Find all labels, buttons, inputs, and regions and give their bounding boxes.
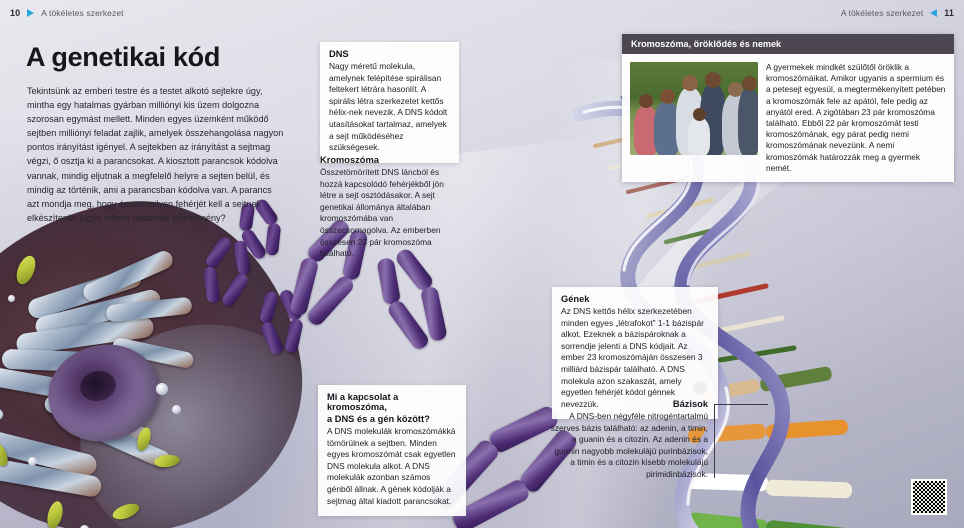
info-card-kapcsolat-text: A DNS molekulák kromoszómákká tömörülnek… — [327, 426, 457, 507]
running-title-right: A tökéletes szerkezet — [841, 8, 923, 18]
running-head-right: A tökéletes szerkezet 11 — [841, 8, 954, 18]
qr-code — [911, 479, 947, 515]
info-card-kromoszoma-title: Kromoszóma — [320, 155, 457, 165]
info-card-kapcsolat-title-line2: a DNS és a gén között? — [327, 414, 457, 424]
info-card-dns-text: Nagy méretű molekula, amelynek felépítés… — [329, 61, 450, 154]
caption-leader-line — [714, 404, 768, 478]
folio-left: 10 — [10, 8, 20, 18]
page-title: A genetikai kód — [26, 42, 220, 73]
info-card-kromoszoma-text: Összetömörített DNS láncból és hozzá kap… — [320, 167, 457, 260]
folio-right: 11 — [944, 8, 954, 18]
intro-paragraph: Tekintsünk az emberi testre és a testet … — [27, 84, 285, 225]
caption-bazisok: Bázisok A DNS-ben négyféle nitrogéntarta… — [548, 399, 708, 481]
info-card-dns-title: DNS — [329, 49, 450, 59]
panel-title: Kromoszóma, öröklődés és nemek — [622, 34, 954, 54]
info-card-genek-text: Az DNS kettős hélix szerkezetében minden… — [561, 306, 709, 410]
info-card-kapcsolat-title-line1: Mi a kapcsolat a kromoszóma, — [327, 392, 457, 412]
info-card-dns: DNS Nagy méretű molekula, amelynek felép… — [320, 42, 459, 163]
animal-cell-illustration — [0, 205, 350, 528]
running-head-left: 10 A tökéletes szerkezet — [10, 8, 124, 18]
magazine-spread: 10 A tökéletes szerkezet A tökéletes sze… — [0, 0, 964, 528]
arrow-left-icon — [930, 9, 937, 17]
info-card-kromoszoma: Kromoszóma Összetömörített DNS láncból é… — [320, 148, 466, 269]
info-card-kapcsolat: Mi a kapcsolat a kromoszóma, a DNS és a … — [318, 385, 466, 516]
family-photo — [630, 62, 758, 155]
caption-bazisok-text: A DNS-ben négyféle nitrogéntartalmú szer… — [548, 411, 708, 481]
panel-kromoszoma-orokles: Kromoszóma, öröklődés és nemek A g — [622, 34, 954, 182]
info-card-genek-title: Gének — [561, 294, 709, 304]
chromosome-illustration — [191, 233, 264, 314]
caption-bazisok-title: Bázisok — [548, 399, 708, 409]
chromosome-illustration — [253, 287, 314, 358]
arrow-right-icon — [27, 9, 34, 17]
running-title-left: A tökéletes szerkezet — [41, 8, 123, 18]
panel-text: A gyermekek mindkét szülőtől öröklik a k… — [766, 62, 946, 174]
